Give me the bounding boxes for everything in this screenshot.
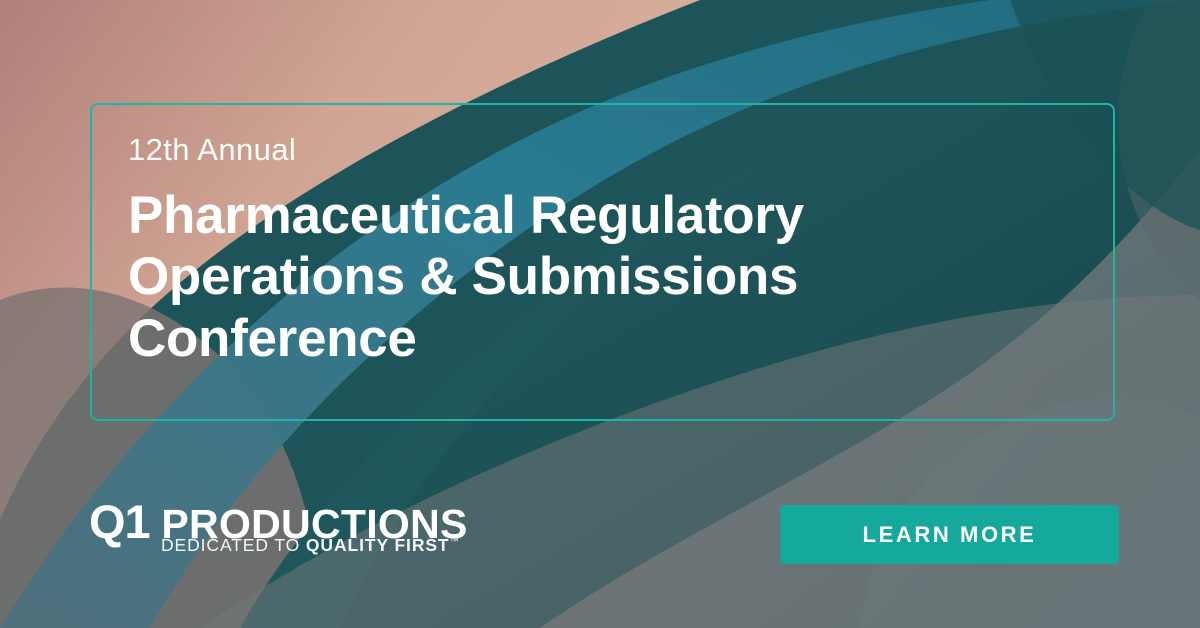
headline-block: 12th Annual Pharmaceutical Regulatory Op… — [128, 133, 1008, 369]
page-title: Pharmaceutical Regulatory Operations & S… — [128, 185, 1008, 369]
headline-line-1: Pharmaceutical Regulatory — [128, 185, 1008, 246]
logo-tagline-light: DEDICATED TO — [161, 535, 306, 555]
eyebrow-text: 12th Annual — [128, 133, 1008, 167]
promo-banner: 12th Annual Pharmaceutical Regulatory Op… — [0, 0, 1200, 628]
logo-tagline-bold: QUALITY FIRST — [306, 535, 450, 555]
logo-q1-mark: Q1 — [89, 495, 150, 548]
learn-more-button[interactable]: LEARN MORE — [780, 505, 1119, 564]
headline-line-2: Operations & Submissions — [128, 246, 1008, 307]
q1-productions-logo: Q1 PRODUCTIONS DEDICATED TO QUALITY FIRS… — [89, 498, 459, 564]
headline-line-3: Conference — [128, 308, 1008, 369]
logo-tagline: DEDICATED TO QUALITY FIRST™ — [161, 537, 459, 555]
trademark-symbol: ™ — [450, 536, 460, 546]
